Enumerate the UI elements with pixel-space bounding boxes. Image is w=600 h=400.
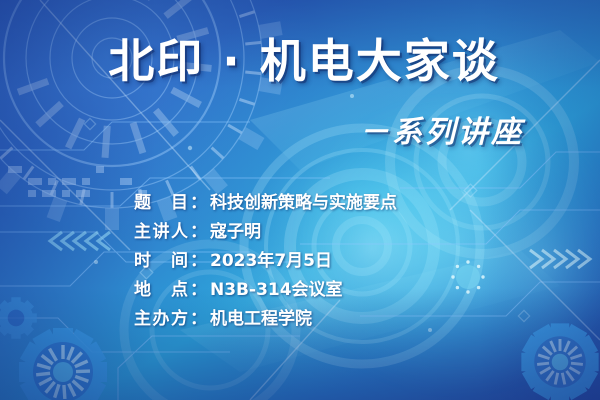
detail-value-location: N3B-314会议室 <box>210 280 343 300</box>
detail-colon: ： <box>188 280 210 300</box>
list-item: 地点 ： N3B-314会议室 <box>134 280 397 300</box>
detail-label-topic: 题目 <box>134 193 188 213</box>
detail-label-location: 地点 <box>134 280 188 300</box>
list-item: 时间 ： 2023年7月5日 <box>134 251 397 271</box>
detail-label-time: 时间 <box>134 251 188 271</box>
list-item: 主办方 ： 机电工程学院 <box>134 309 397 329</box>
detail-value-time: 2023年7月5日 <box>210 251 332 271</box>
seminar-poster: 北印 · 机电大家谈 －系列讲座 题目 ： 科技创新策略与实施要点 主讲人 ： … <box>0 0 600 400</box>
detail-colon: ： <box>188 251 210 271</box>
detail-label-organizer: 主办方 <box>134 309 188 329</box>
detail-label-speaker: 主讲人 <box>134 222 188 242</box>
page-title: 北印 · 机电大家谈 <box>0 38 600 84</box>
detail-colon: ： <box>188 309 210 329</box>
detail-colon: ： <box>188 222 210 242</box>
detail-colon: ： <box>188 193 210 213</box>
detail-list: 题目 ： 科技创新策略与实施要点 主讲人 ： 寇子明 时间 ： 2023年7月5… <box>134 193 397 329</box>
list-item: 主讲人 ： 寇子明 <box>134 222 397 242</box>
detail-value-organizer: 机电工程学院 <box>210 309 312 329</box>
list-item: 题目 ： 科技创新策略与实施要点 <box>134 193 397 213</box>
poster-content: 北印 · 机电大家谈 －系列讲座 题目 ： 科技创新策略与实施要点 主讲人 ： … <box>0 0 600 400</box>
poster-subtitle: －系列讲座 <box>359 118 524 148</box>
detail-value-speaker: 寇子明 <box>210 222 261 242</box>
detail-value-topic: 科技创新策略与实施要点 <box>210 193 397 213</box>
